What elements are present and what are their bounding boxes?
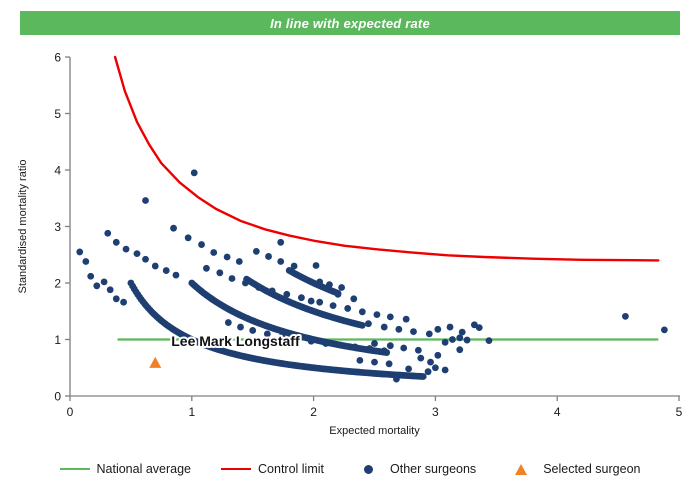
data-point-other-surgeon — [403, 316, 410, 323]
data-point-other-surgeon — [426, 330, 433, 337]
data-point-other-surgeon — [434, 352, 441, 359]
data-point-other-surgeon — [142, 197, 149, 204]
data-point-other-surgeon — [410, 328, 417, 335]
data-point-other-surgeon — [313, 262, 320, 269]
data-point-other-surgeon — [476, 324, 483, 331]
y-tick-label: 6 — [54, 51, 61, 65]
data-point-other-surgeon — [427, 359, 434, 366]
data-point-other-surgeon — [330, 302, 337, 309]
x-axis-title: Expected mortality — [329, 425, 420, 437]
data-point-other-surgeon — [371, 359, 378, 366]
data-point-other-surgeon — [277, 239, 284, 246]
data-point-other-surgeon — [191, 169, 198, 176]
national-average-line-swatch — [60, 468, 90, 470]
y-tick-label: 4 — [54, 164, 61, 178]
data-point-other-surgeon — [322, 340, 329, 347]
x-tick-label: 5 — [676, 405, 683, 419]
data-point-other-surgeon — [464, 337, 471, 344]
data-point-other-surgeon — [265, 253, 272, 260]
data-point-other-surgeon — [352, 343, 359, 350]
data-point-other-surgeon — [123, 246, 130, 253]
data-point-other-surgeon — [420, 373, 427, 380]
control-limit-line-swatch — [221, 468, 251, 470]
legend-label-selected-surgeon: Selected surgeon — [543, 462, 640, 476]
legend-label-national-average: National average — [97, 462, 192, 476]
data-point-other-surgeon — [434, 326, 441, 333]
data-point-other-surgeon — [456, 346, 463, 353]
data-point-other-surgeon — [371, 340, 378, 347]
data-point-other-surgeon — [356, 357, 363, 364]
data-point-other-surgeon — [387, 314, 394, 321]
legend-item-other-surgeons[interactable]: Other surgeons — [354, 462, 476, 476]
data-point-other-surgeon — [405, 365, 412, 372]
data-point-other-surgeon — [337, 342, 344, 349]
plot-area: 0123456012345Expected mortalityStandardi… — [0, 0, 700, 500]
data-point-other-surgeon — [308, 298, 315, 305]
data-point-other-surgeon — [316, 299, 323, 306]
data-point-other-surgeon — [134, 250, 141, 257]
y-tick-label: 3 — [54, 220, 61, 234]
x-tick-label: 0 — [67, 405, 74, 419]
data-point-other-surgeon — [449, 336, 456, 343]
data-point-other-surgeon — [210, 249, 217, 256]
data-point-other-surgeon — [400, 345, 407, 352]
data-point-other-surgeon — [432, 364, 439, 371]
data-point-other-surgeon — [486, 337, 493, 344]
data-point-other-surgeon — [76, 249, 83, 256]
data-point-other-surgeon — [120, 299, 127, 306]
data-point-other-surgeon — [350, 295, 357, 302]
data-point-other-surgeon — [173, 272, 180, 279]
data-point-other-surgeon — [253, 248, 260, 255]
data-point-other-surgeon — [335, 291, 342, 298]
data-point-other-surgeon — [387, 342, 394, 349]
control-limit-curve — [115, 57, 658, 260]
data-point-other-surgeon — [185, 234, 192, 241]
data-point-other-surgeon — [359, 322, 366, 329]
data-point-other-surgeon — [277, 258, 284, 265]
data-point-other-surgeon — [344, 305, 351, 312]
data-point-selected-surgeon[interactable] — [149, 357, 161, 368]
data-point-other-surgeon — [170, 225, 177, 232]
data-point-other-surgeon — [291, 263, 298, 270]
chart-legend: National average Control limit Other sur… — [0, 455, 700, 483]
data-point-other-surgeon — [417, 355, 424, 362]
data-point-other-surgeon — [395, 326, 402, 333]
legend-label-control-limit: Control limit — [258, 462, 324, 476]
y-tick-label: 1 — [54, 333, 61, 347]
other-surgeons-dot-swatch — [364, 465, 373, 474]
x-tick-label: 3 — [432, 405, 439, 419]
y-tick-label: 0 — [54, 390, 61, 404]
data-point-other-surgeon — [283, 291, 290, 298]
data-point-other-surgeon — [393, 376, 400, 383]
data-point-other-surgeon — [381, 324, 388, 331]
data-point-other-surgeon — [316, 278, 323, 285]
data-point-other-surgeon — [661, 326, 668, 333]
data-point-other-surgeon — [326, 281, 333, 288]
data-point-other-surgeon — [113, 239, 120, 246]
data-point-other-surgeon — [622, 313, 629, 320]
data-point-other-surgeon — [255, 284, 262, 291]
data-point-other-surgeon — [308, 338, 315, 345]
data-point-other-surgeon — [203, 265, 210, 272]
data-point-other-surgeon — [269, 288, 276, 295]
data-point-other-surgeon — [237, 324, 244, 331]
legend-item-control-limit[interactable]: Control limit — [221, 462, 324, 476]
data-point-other-surgeon — [224, 254, 231, 261]
data-point-other-surgeon — [459, 329, 466, 336]
data-point-other-surgeon — [359, 308, 366, 315]
data-point-other-surgeon — [442, 339, 449, 346]
data-point-other-surgeon — [242, 280, 249, 287]
data-point-other-surgeon — [142, 256, 149, 263]
data-point-other-surgeon — [152, 263, 159, 270]
data-point-other-surgeon — [82, 258, 89, 265]
x-tick-label: 1 — [188, 405, 195, 419]
selected-surgeon-label: Lee Mark Longstaff — [171, 333, 300, 349]
data-point-other-surgeon — [236, 258, 243, 265]
plot-canvas: 0123456012345Expected mortalityStandardi… — [0, 0, 700, 500]
data-point-other-surgeon — [366, 345, 373, 352]
data-point-other-surgeon — [225, 319, 232, 326]
data-point-other-surgeon — [198, 241, 205, 248]
x-tick-label: 2 — [310, 405, 317, 419]
data-point-other-surgeon — [425, 368, 432, 375]
data-point-other-surgeon — [113, 295, 120, 302]
data-point-other-surgeon — [374, 311, 381, 318]
data-point-other-surgeon — [442, 367, 449, 374]
data-point-other-surgeon — [216, 269, 223, 276]
data-point-other-surgeon — [107, 286, 114, 293]
data-point-other-surgeon — [87, 273, 94, 280]
selected-surgeon-triangle-swatch — [515, 464, 527, 475]
legend-item-national-average[interactable]: National average — [60, 462, 192, 476]
data-point-other-surgeon — [229, 275, 236, 282]
data-point-other-surgeon — [93, 282, 100, 289]
data-point-other-surgeon — [104, 230, 111, 237]
data-point-other-surgeon — [101, 278, 108, 285]
data-point-other-surgeon — [338, 284, 345, 291]
y-axis-title: Standardised mortality ratio — [17, 160, 29, 294]
y-tick-label: 2 — [54, 277, 61, 291]
legend-label-other-surgeons: Other surgeons — [390, 462, 476, 476]
y-tick-label: 5 — [54, 107, 61, 121]
data-point-other-surgeon — [386, 360, 393, 367]
data-point-other-surgeon — [163, 267, 170, 274]
x-tick-label: 4 — [554, 405, 561, 419]
legend-item-selected-surgeon[interactable]: Selected surgeon — [506, 462, 640, 476]
funnel-plot-figure: In line with expected rate 0123456012345… — [0, 0, 700, 500]
data-point-other-surgeon — [381, 347, 388, 354]
data-point-other-surgeon — [415, 347, 422, 354]
data-point-other-surgeon — [298, 294, 305, 301]
data-point-other-surgeon — [365, 320, 372, 327]
data-point-other-surgeon — [447, 324, 454, 331]
